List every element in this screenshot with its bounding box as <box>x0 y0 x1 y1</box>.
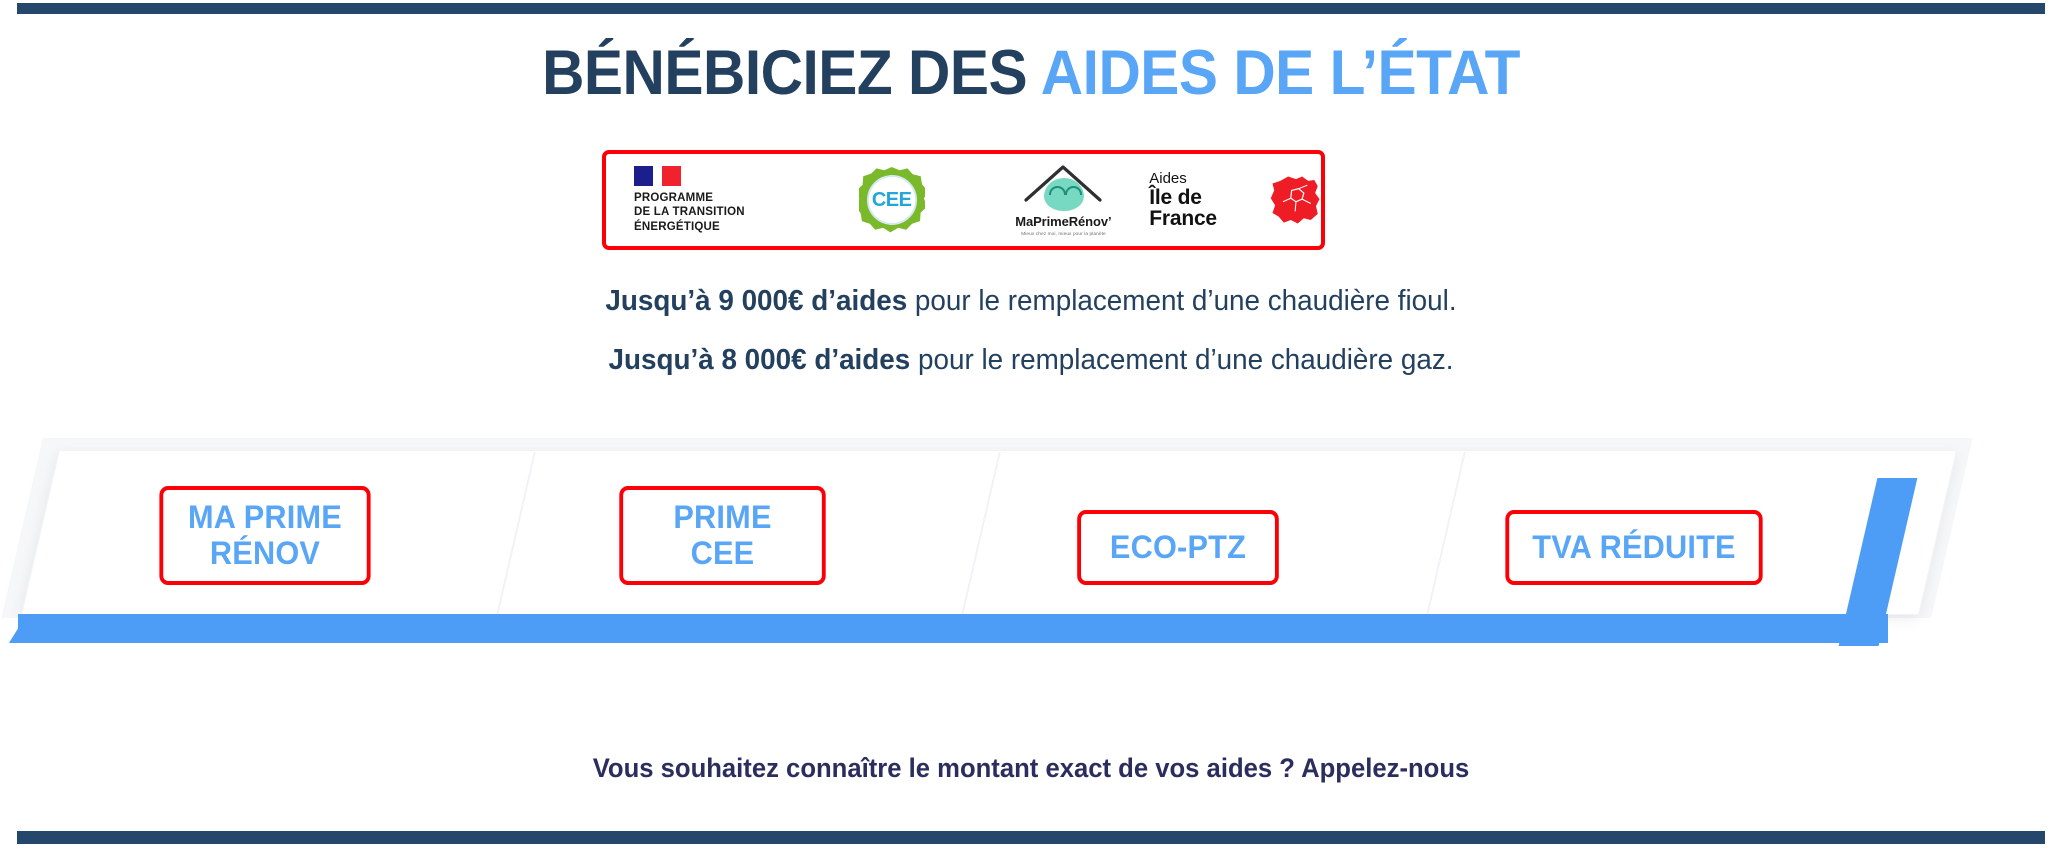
badge-tva-reduite-line1: TVA RÉDUITE <box>1532 530 1736 566</box>
badge-prime-cee-text: PRIME CEE <box>673 500 771 572</box>
badge-eco-ptz[interactable]: ECO-PTZ <box>1077 510 1279 585</box>
badge-tva-reduite-text: TVA RÉDUITE <box>1532 530 1736 566</box>
aid-line-fioul-rest: pour le remplacement d’une chaudière fio… <box>907 285 1456 317</box>
logo-cee: CEE <box>806 154 978 246</box>
aid-line-gaz-amount: Jusqu’à 8 000€ d’aides <box>609 344 911 376</box>
partner-logos-strip: PROGRAMME DE LA TRANSITION ÉNERGÉTIQUE C… <box>602 150 1325 250</box>
programme-line-2: DE LA TRANSITION <box>634 205 745 219</box>
aid-line-gaz: Jusqu’à 8 000€ d’aides pour le remplacem… <box>41 344 2021 377</box>
badge-prime-cee-line1: PRIME <box>673 500 771 536</box>
cee-inner-circle: CEE <box>867 175 917 225</box>
cee-badge-icon: CEE <box>859 167 925 233</box>
logo-aides-ile-de-france: Aides Île de France <box>1149 154 1321 246</box>
aid-line-gaz-rest: pour le remplacement d’une chaudière gaz… <box>910 344 1453 376</box>
aids-ribbon: MA PRIME RÉNOV + PRIME CEE + ECO-PTZ + <box>0 438 2062 658</box>
ribbon-band <box>18 614 1888 643</box>
maprimerenov-house-icon <box>1018 164 1108 210</box>
badge-ma-prime-renov-text: MA PRIME RÉNOV <box>188 500 342 572</box>
aid-line-fioul: Jusqu’à 9 000€ d’aides pour le remplacem… <box>41 285 2021 318</box>
programme-line-3: ÉNERGÉTIQUE <box>634 220 745 234</box>
top-divider-bar <box>17 3 2045 14</box>
programme-line-1: PROGRAMME <box>634 191 745 205</box>
badge-ma-prime-renov-line1: MA PRIME <box>188 500 342 536</box>
smiley-eye-right-icon <box>1065 186 1082 195</box>
maprimerenov-tagline: Mieux chez moi, mieux pour la planète <box>1021 231 1106 237</box>
ile-de-france-map-icon <box>1269 171 1321 229</box>
badge-ma-prime-renov-line2: RÉNOV <box>188 536 342 572</box>
badge-prime-cee[interactable]: PRIME CEE <box>619 486 825 585</box>
bottom-divider-bar <box>17 831 2045 844</box>
page-title-light: AIDES DE L’ÉTAT <box>1041 38 1520 108</box>
badge-eco-ptz-line1: ECO-PTZ <box>1110 530 1246 566</box>
badge-eco-ptz-text: ECO-PTZ <box>1110 530 1246 566</box>
logo-maprimerenov: MaPrimeRénov’ Mieux chez moi, mieux pour… <box>978 154 1150 246</box>
logo-programme-transition-energetique: PROGRAMME DE LA TRANSITION ÉNERGÉTIQUE <box>606 154 806 246</box>
page-title: BÉNÉBICIEZ DES AIDES DE L’ÉTAT <box>72 42 1990 105</box>
badge-tva-reduite[interactable]: TVA RÉDUITE <box>1505 510 1762 585</box>
footer-question: Vous souhaitez connaître le montant exac… <box>52 753 2011 784</box>
idf-text-block: Aides Île de France <box>1149 171 1259 229</box>
smiley-eye-left-icon <box>1049 186 1066 195</box>
promo-page: BÉNÉBICIEZ DES AIDES DE L’ÉTAT PROGRAMME… <box>0 0 2062 854</box>
programme-logo-text: PROGRAMME DE LA TRANSITION ÉNERGÉTIQUE <box>634 191 745 234</box>
flag-red-bar <box>662 166 681 186</box>
french-flag-icon <box>634 166 681 186</box>
badge-prime-cee-line2: CEE <box>673 536 771 572</box>
idf-line-1: Aides <box>1149 171 1187 186</box>
aid-line-fioul-amount: Jusqu’à 9 000€ d’aides <box>605 285 907 317</box>
badge-ma-prime-renov[interactable]: MA PRIME RÉNOV <box>159 486 370 585</box>
page-title-dark: BÉNÉBICIEZ DES <box>542 38 1041 108</box>
cee-label: CEE <box>872 189 912 212</box>
idf-line-2: Île de France <box>1149 187 1259 229</box>
flag-blue-bar <box>634 166 653 186</box>
maprimerenov-name: MaPrimeRénov’ <box>1015 214 1111 229</box>
